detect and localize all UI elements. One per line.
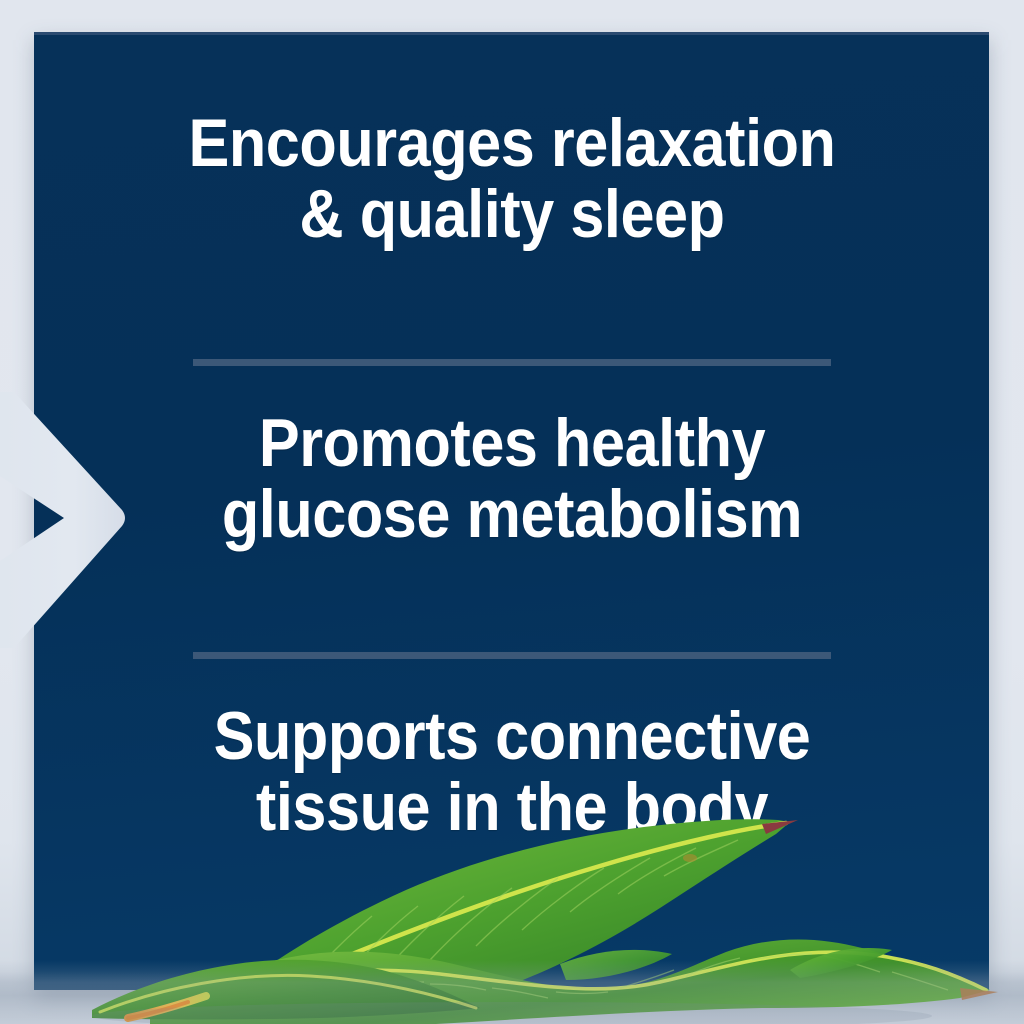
promo-card: Encourages relaxation & quality sleep Pr… <box>0 0 1024 1024</box>
benefit-glucose-metabolism: Promotes healthy glucose metabolism <box>116 408 908 549</box>
ground-shadow <box>0 960 1024 1024</box>
benefit-divider-1 <box>193 359 831 366</box>
benefit-relaxation-sleep: Encourages relaxation & quality sleep <box>116 108 908 249</box>
benefit-divider-2 <box>193 652 831 659</box>
chevron-right-icon <box>0 392 126 642</box>
